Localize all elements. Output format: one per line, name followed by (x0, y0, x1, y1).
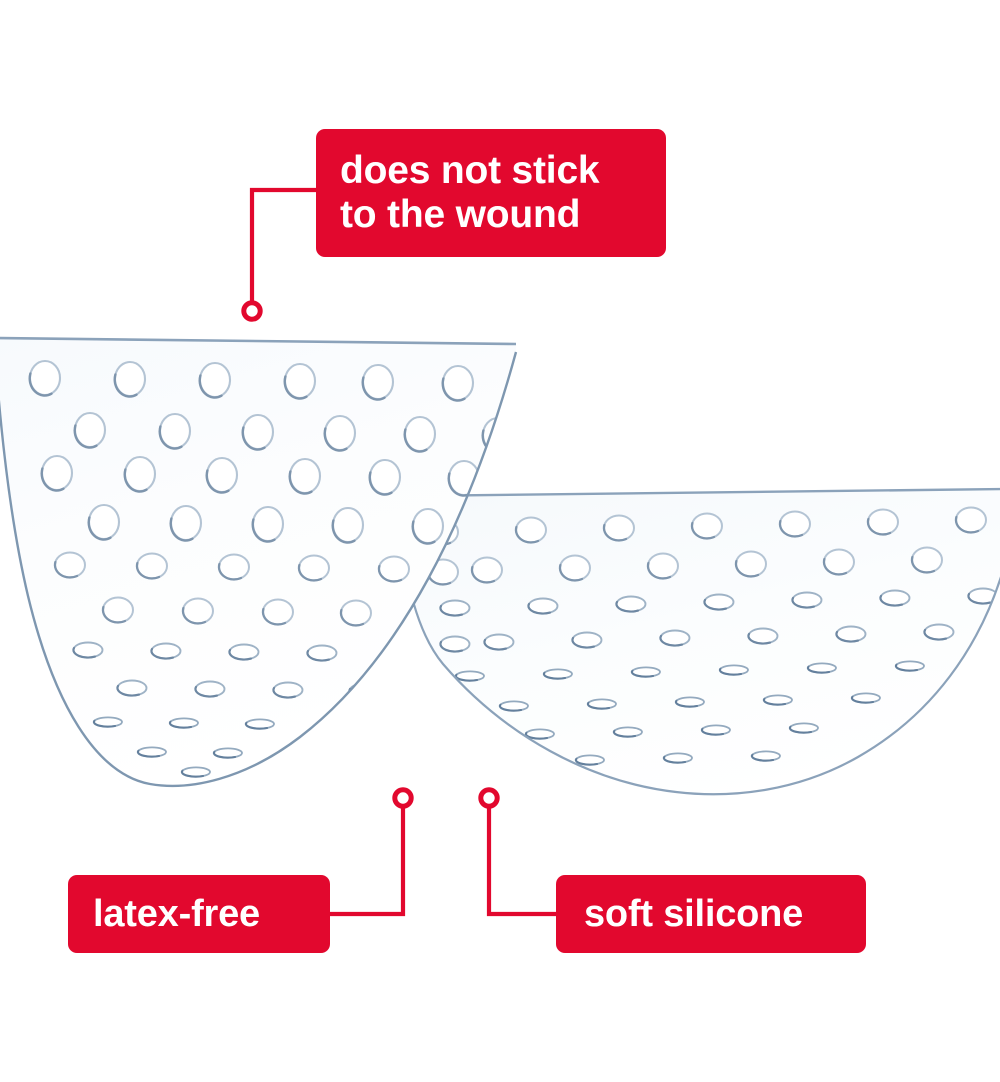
callout-badge-latex-free: latex-free (68, 875, 330, 953)
silicone-sheet-rear (400, 489, 1000, 794)
callout-label-line-1: soft silicone (584, 893, 866, 936)
callout-badge-soft-silicone: soft silicone (556, 875, 866, 953)
callout-label-line-1: latex-free (93, 893, 330, 936)
callout-label-line-2: to the wound (340, 193, 666, 237)
infographic-canvas: does not stick to the wound latex-free s… (0, 0, 1000, 1082)
callout-badge-does-not-stick: does not stick to the wound (316, 129, 666, 257)
callout-label-line-1: does not stick (340, 149, 666, 193)
